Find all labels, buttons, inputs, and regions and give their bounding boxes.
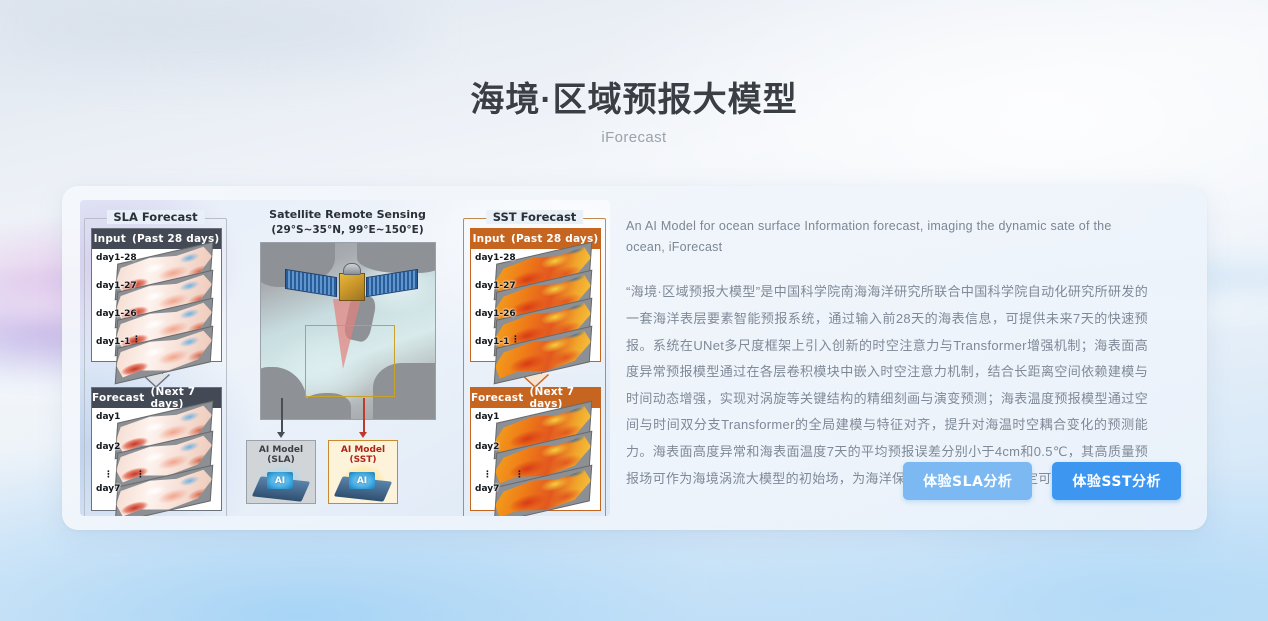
satellite-block: Satellite Remote Sensing (29°S~35°N, 99°… xyxy=(240,206,455,420)
satellite-icon xyxy=(339,273,365,301)
sla-forecast-layers: day1 day2 ⋮ ⋮ day7 xyxy=(92,408,221,510)
layer-label: day1-1 xyxy=(475,337,509,347)
satellite-extent: (29°S~35°N, 99°E~150°E) xyxy=(240,224,455,236)
description-panel: An AI Model for ocean surface Informatio… xyxy=(610,186,1207,530)
page-root: 海境·区域预报大模型 iForecast SLA Forecast Input … xyxy=(0,0,1268,621)
layer-label: day1 xyxy=(475,412,499,422)
layer-label: day1-1 xyxy=(96,337,130,347)
ai-chip-icon: AI xyxy=(335,461,391,501)
sla-input-layers: day1-28 day1-27 day1-26 day1-1 ⋮ xyxy=(92,249,221,361)
layer-label: day2 xyxy=(96,442,120,452)
model-illustration: SLA Forecast Input (Past 28 days) day1-2… xyxy=(80,200,610,516)
solar-panel-icon xyxy=(366,269,418,297)
sst-input-panel: Input (Past 28 days) day1-28 day1-27 day… xyxy=(470,228,601,362)
ai-chip-icon: AI xyxy=(253,461,309,501)
sst-forecast-label: Forecast xyxy=(471,392,523,404)
ellipsis-dots: ⋮ xyxy=(515,474,525,477)
sst-column-title: SST Forecast xyxy=(486,210,584,224)
layer-label: day1-26 xyxy=(96,309,137,319)
sla-input-label: Input xyxy=(94,233,126,245)
layer-label: day1-28 xyxy=(475,253,516,263)
ellipsis-dots: ⋮ xyxy=(483,474,493,477)
layer-label: day1-26 xyxy=(475,309,516,319)
flow-connector-arrow-icon xyxy=(359,432,367,438)
flow-connector xyxy=(363,398,365,432)
page-subtitle: iForecast xyxy=(0,129,1268,146)
sla-forecast-panel: Forecast (Next 7 days) day1 day2 ⋮ ⋮ day… xyxy=(91,387,222,511)
layer-label: day7 xyxy=(96,484,120,494)
layer-label: day2 xyxy=(475,442,499,452)
ai-chip-text: AI xyxy=(267,472,293,489)
layer-label: day1-27 xyxy=(475,281,516,291)
ai-model-sst-box: AI Model (SST) AI xyxy=(328,440,398,504)
ai-chip-text: AI xyxy=(349,472,375,489)
sst-input-label: Input xyxy=(473,233,505,245)
sst-forecast-panel: Forecast (Next 7 days) day1 day2 ⋮ ⋮ day… xyxy=(470,387,601,511)
hero-card: SLA Forecast Input (Past 28 days) day1-2… xyxy=(62,186,1207,530)
sst-forecast-column: SST Forecast Input (Past 28 days) day1-2… xyxy=(463,218,606,516)
english-description: An AI Model for ocean surface Informatio… xyxy=(626,216,1146,257)
try-sst-analysis-button[interactable]: 体验SST分析 xyxy=(1052,462,1181,500)
layer-label: day1 xyxy=(96,412,120,422)
ellipsis-dots: ⋮ xyxy=(104,474,114,477)
sst-input-layers: day1-28 day1-27 day1-26 day1-1 ⋮ xyxy=(471,249,600,361)
sla-forecast-label: Forecast xyxy=(92,392,144,404)
try-sla-analysis-button[interactable]: 体验SLA分析 xyxy=(903,462,1032,500)
flow-connector xyxy=(281,398,283,432)
chinese-description: “海境·区域预报大模型”是中国科学院南海海洋研究所联合中国科学院自动化研究所研发… xyxy=(626,279,1148,492)
region-of-interest-box xyxy=(305,325,395,397)
ellipsis-dots: ⋮ xyxy=(511,339,521,342)
ai-model-sla-box: AI Model (SLA) AI xyxy=(246,440,316,504)
sla-forecast-column: SLA Forecast Input (Past 28 days) day1-2… xyxy=(84,218,227,516)
sla-column-title: SLA Forecast xyxy=(106,210,204,224)
flow-connector-arrow-icon xyxy=(277,432,285,438)
ellipsis-dots: ⋮ xyxy=(132,339,142,342)
satellite-map-image xyxy=(260,242,436,420)
sst-forecast-layers: day1 day2 ⋮ ⋮ day7 xyxy=(471,408,600,510)
sla-input-panel: Input (Past 28 days) day1-28 day1-27 day… xyxy=(91,228,222,362)
action-button-row: 体验SLA分析 体验SST分析 xyxy=(903,462,1181,500)
layer-label: day7 xyxy=(475,484,499,494)
page-header: 海境·区域预报大模型 iForecast xyxy=(0,78,1268,146)
satellite-antenna-icon xyxy=(343,263,361,275)
satellite-title: Satellite Remote Sensing xyxy=(240,206,455,223)
cloud-streak xyxy=(0,0,420,60)
layer-label: day1-27 xyxy=(96,281,137,291)
ellipsis-dots: ⋮ xyxy=(136,474,146,477)
layer-label: day1-28 xyxy=(96,253,137,263)
page-title: 海境·区域预报大模型 xyxy=(0,78,1268,122)
solar-panel-icon xyxy=(285,269,337,297)
